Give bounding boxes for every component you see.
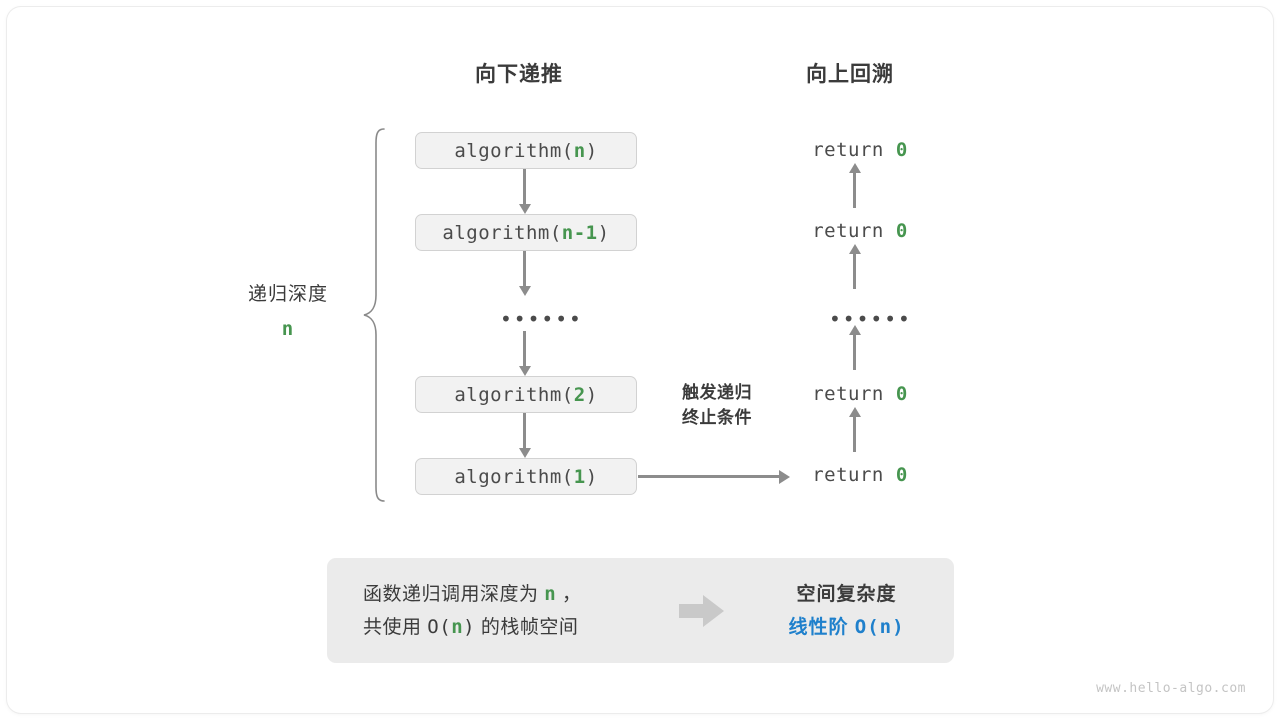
summary-line2-o: O( (427, 616, 451, 638)
summary-result: 空间复杂度 线性阶 O(n) (739, 578, 954, 644)
return-keyword: return (812, 220, 884, 242)
summary-line2-text: 共使用 (363, 617, 422, 638)
complexity-summary-panel: 函数递归调用深度为 n ， 共使用 O(n) 的栈帧空间 空间复杂度 线性阶 O… (327, 558, 954, 663)
return-value: 0 (896, 139, 908, 161)
call-box-n[interactable]: algorithm(n) (415, 132, 637, 169)
heading-recursion-upward: 向上回溯 (806, 58, 894, 88)
summary-result-value: 线性阶 O(n) (739, 611, 954, 644)
recursion-depth-label: 递归深度 n (218, 278, 358, 346)
summary-description: 函数递归调用深度为 n ， 共使用 O(n) 的栈帧空间 (327, 578, 665, 644)
recursion-depth-text: 递归深度 (248, 284, 328, 305)
summary-line2-tail: 的栈帧空间 (481, 617, 579, 638)
summary-line2-n: n (451, 616, 463, 638)
down-arrow-3 (523, 331, 526, 367)
ellipsis-right: •••••• (829, 309, 912, 329)
call-prefix: algorithm( (454, 384, 573, 406)
termination-note-line-1: 触发递归 (682, 383, 752, 402)
termination-condition-note: 触发递归 终止条件 (657, 380, 777, 430)
return-statement-3: return 0 (800, 383, 920, 405)
summary-line1-comma: ， (562, 584, 582, 605)
down-arrow-2 (523, 251, 526, 287)
summary-line1-text: 函数递归调用深度为 (363, 584, 539, 605)
return-statement-4: return 0 (800, 464, 920, 486)
watermark: www.hello-algo.com (1096, 681, 1246, 696)
call-arg: n-1 (562, 222, 598, 244)
summary-result-notation: O(n) (855, 616, 905, 638)
recursion-depth-brace (358, 125, 388, 510)
return-statement-1: return 0 (800, 139, 920, 161)
return-keyword: return (812, 139, 884, 161)
call-prefix: algorithm( (454, 466, 573, 488)
summary-result-order: 线性阶 (788, 617, 848, 638)
return-statement-2: return 0 (800, 220, 920, 242)
diagram-canvas: 向下递推 向上回溯 递归深度 n algorithm(n) algorithm(… (0, 0, 1280, 720)
return-value: 0 (896, 464, 908, 486)
return-value: 0 (896, 220, 908, 242)
call-box-1[interactable]: algorithm(1) (415, 458, 637, 495)
summary-line2-close: ) (463, 616, 475, 638)
call-box-2[interactable]: algorithm(2) (415, 376, 637, 413)
ellipsis-left: •••••• (500, 309, 583, 329)
call-prefix: algorithm( (442, 222, 561, 244)
right-block-arrow-icon (665, 594, 739, 628)
up-arrow-4 (853, 416, 856, 452)
return-value: 0 (896, 383, 908, 405)
return-keyword: return (812, 464, 884, 486)
call-suffix: ) (586, 466, 598, 488)
summary-line-2: 共使用 O(n) 的栈帧空间 (363, 611, 665, 644)
up-arrow-2 (853, 253, 856, 289)
heading-recursion-downward: 向下递推 (475, 58, 563, 88)
summary-line-1: 函数递归调用深度为 n ， (363, 578, 665, 611)
recursion-depth-value: n (218, 312, 358, 346)
termination-arrow (638, 475, 780, 478)
down-arrow-4 (523, 413, 526, 449)
call-suffix: ) (586, 384, 598, 406)
termination-note-line-2: 终止条件 (682, 408, 752, 427)
up-arrow-3 (853, 334, 856, 370)
call-arg: n (574, 140, 586, 162)
call-suffix: ) (586, 140, 598, 162)
down-arrow-1 (523, 169, 526, 205)
call-prefix: algorithm( (454, 140, 573, 162)
call-suffix: ) (598, 222, 610, 244)
call-arg: 1 (574, 466, 586, 488)
summary-line1-n: n (544, 583, 556, 605)
summary-result-title: 空间复杂度 (739, 578, 954, 611)
call-box-n-minus-1[interactable]: algorithm(n-1) (415, 214, 637, 251)
up-arrow-1 (853, 172, 856, 208)
return-keyword: return (812, 383, 884, 405)
call-arg: 2 (574, 384, 586, 406)
